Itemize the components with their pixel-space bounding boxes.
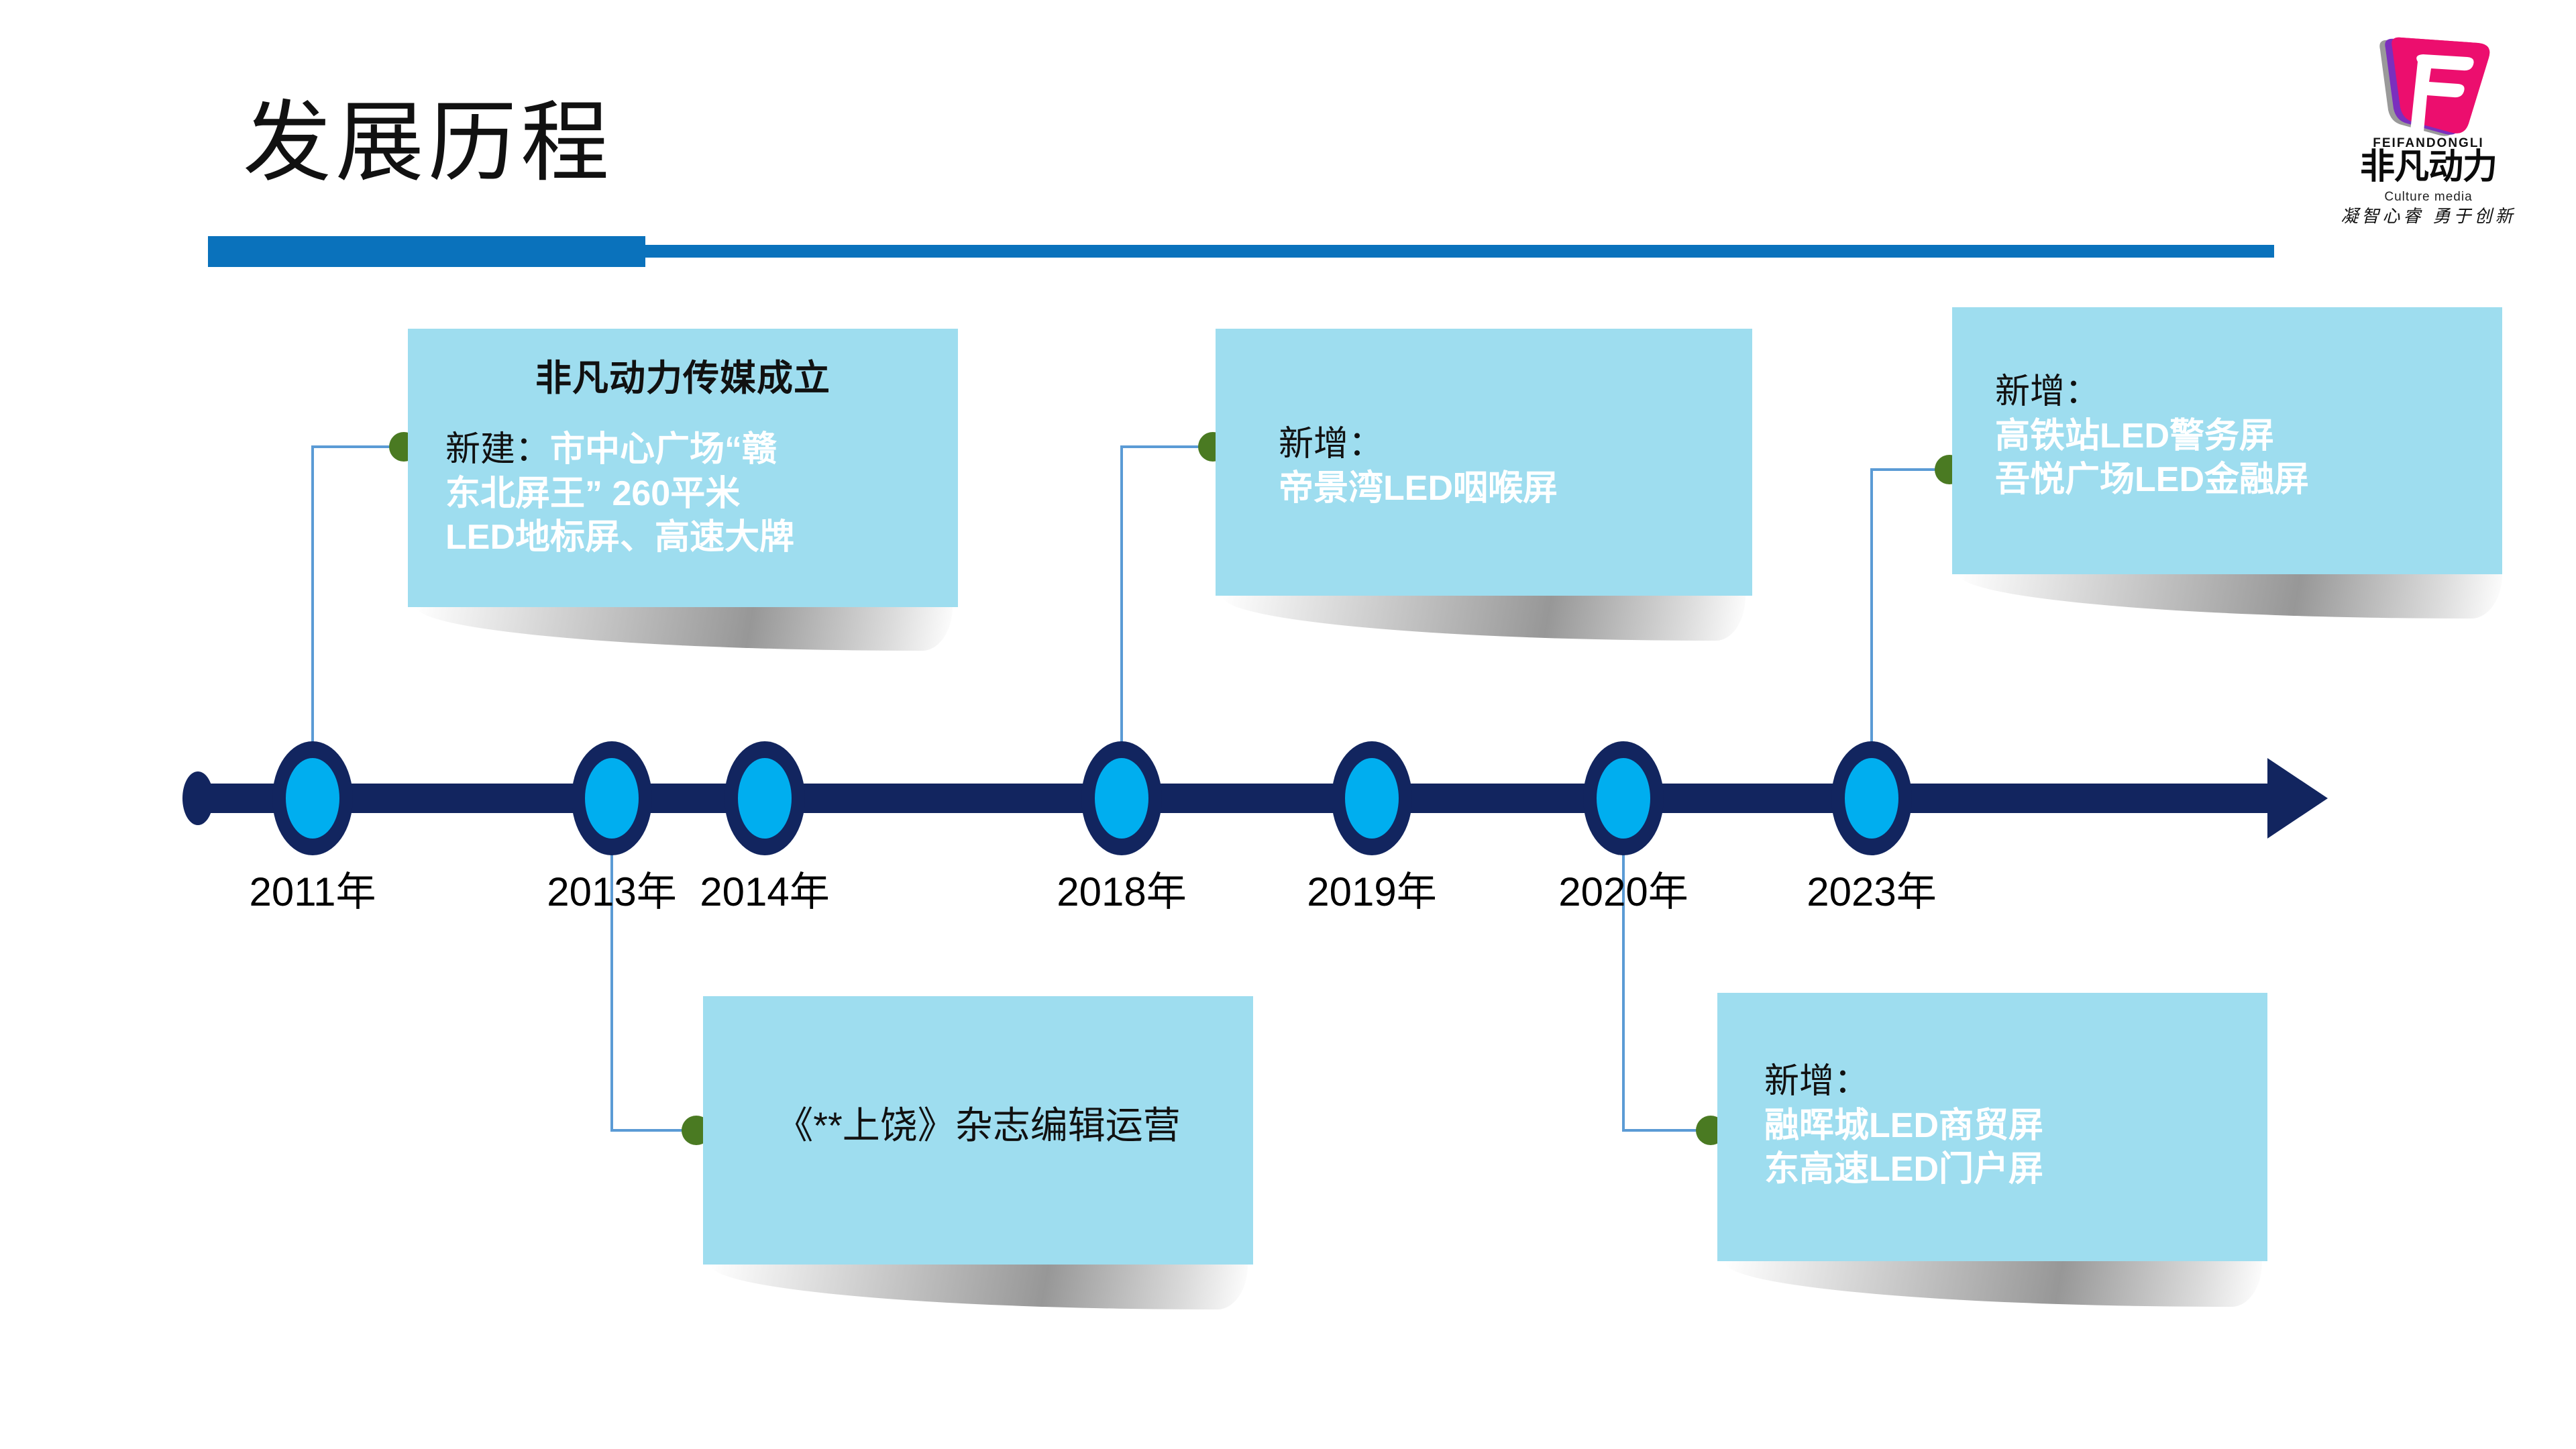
card-2023[interactable]: 新增： 高铁站LED警务屏 吾悦广场LED金融屏 bbox=[1952, 307, 2502, 574]
card-2018-body: 新增： 帝景湾LED咽喉屏 bbox=[1279, 423, 1721, 511]
logo-name-cn: 非凡动力 bbox=[2328, 149, 2529, 186]
card-2023-line-0: 高铁站LED警务屏 bbox=[1995, 417, 2274, 455]
card-2020[interactable]: 新增： 融晖城LED商贸屏 东高速LED门户屏 bbox=[1717, 993, 2267, 1261]
node-label-2020: 2020年 bbox=[1532, 859, 1715, 918]
node-core bbox=[1095, 758, 1148, 839]
card-2023-line-1: 吾悦广场LED金融屏 bbox=[1995, 460, 2309, 499]
card-2011[interactable]: 非凡动力传媒成立 新建：市中心广场“赣 东北屏王” 260平米 LED地标屏、高… bbox=[408, 329, 958, 607]
card-2013[interactable]: 《**上饶》杂志编辑运营 bbox=[703, 996, 1253, 1265]
card-2011-line-2: LED地标屏、高速大牌 bbox=[445, 518, 794, 557]
node-label-2019: 2019年 bbox=[1281, 859, 1463, 918]
card-2018[interactable]: 新增： 帝景湾LED咽喉屏 bbox=[1216, 329, 1752, 596]
company-logo: FEIFANDONGLI 非凡动力 Culture media 凝智心睿 勇于创… bbox=[2328, 31, 2529, 225]
card-2013-text: 《**上饶》杂志编辑运营 bbox=[775, 1104, 1181, 1146]
timeline-axis bbox=[188, 784, 2286, 813]
timeline-node-2020[interactable]: 2020年 bbox=[1583, 741, 1664, 855]
logo-tagline: 凝智心睿 勇于创新 bbox=[2328, 208, 2529, 225]
timeline-node-2011[interactable]: 2011年 bbox=[272, 741, 353, 855]
timeline-node-2018[interactable]: 2018年 bbox=[1081, 741, 1162, 855]
card-shadow-2018 bbox=[1222, 594, 1746, 641]
card-shadow-2011 bbox=[416, 604, 953, 651]
timeline-node-2019[interactable]: 2019年 bbox=[1332, 741, 1412, 855]
card-2011-label: 新建： bbox=[445, 430, 550, 469]
card-2013-body: 《**上饶》杂志编辑运营 bbox=[703, 1102, 1253, 1150]
card-2011-title: 非凡动力传媒成立 bbox=[408, 357, 958, 400]
timeline-node-2023[interactable]: 2023年 bbox=[1831, 741, 1912, 855]
node-label-2014: 2014年 bbox=[674, 859, 856, 918]
logo-f-triangle-icon bbox=[2355, 31, 2495, 142]
accent-bar-thick bbox=[208, 236, 645, 267]
card-shadow-2013 bbox=[711, 1263, 1248, 1309]
logo-subtitle: Culture media bbox=[2328, 191, 2529, 203]
card-2020-line-1: 东高速LED门户屏 bbox=[1764, 1150, 2043, 1189]
timeline-node-2014[interactable]: 2014年 bbox=[724, 741, 805, 855]
card-2018-line-0: 帝景湾LED咽喉屏 bbox=[1279, 469, 1558, 508]
page-title: 发展历程 bbox=[243, 94, 613, 191]
card-2018-label: 新增： bbox=[1279, 425, 1383, 464]
accent-bar-thin bbox=[644, 245, 2274, 258]
node-core bbox=[1345, 758, 1399, 839]
node-core bbox=[1845, 758, 1898, 839]
node-label-2018: 2018年 bbox=[1030, 859, 1213, 918]
node-core bbox=[738, 758, 792, 839]
card-2011-body: 新建：市中心广场“赣 东北屏王” 260平米 LED地标屏、高速大牌 bbox=[445, 428, 928, 560]
card-2011-line-0: 市中心广场“赣 bbox=[550, 430, 777, 469]
card-2020-line-0: 融晖城LED商贸屏 bbox=[1764, 1106, 2043, 1145]
node-core bbox=[286, 758, 339, 839]
card-2023-body: 新增： 高铁站LED警务屏 吾悦广场LED金融屏 bbox=[1995, 370, 2491, 502]
card-shadow-2023 bbox=[1959, 572, 2502, 619]
node-label-2023: 2023年 bbox=[1780, 859, 1963, 918]
card-2023-label: 新增： bbox=[1995, 372, 2100, 411]
timeline-node-2013[interactable]: 2013年 bbox=[572, 741, 652, 855]
axis-arrowhead-icon bbox=[2267, 758, 2328, 839]
slide-canvas: 发展历程 FEIFANDONGLI 非凡动力 Culture media 凝智心… bbox=[0, 0, 2576, 1449]
card-shadow-2020 bbox=[1725, 1260, 2262, 1307]
node-core bbox=[1597, 758, 1650, 839]
card-2020-label: 新增： bbox=[1764, 1062, 1869, 1101]
node-label-2011: 2011年 bbox=[221, 859, 404, 918]
card-2011-line-1: 东北屏王” 260平米 bbox=[445, 474, 740, 513]
node-core bbox=[585, 758, 639, 839]
card-2020-body: 新增： 融晖城LED商贸屏 东高速LED门户屏 bbox=[1764, 1060, 2254, 1192]
